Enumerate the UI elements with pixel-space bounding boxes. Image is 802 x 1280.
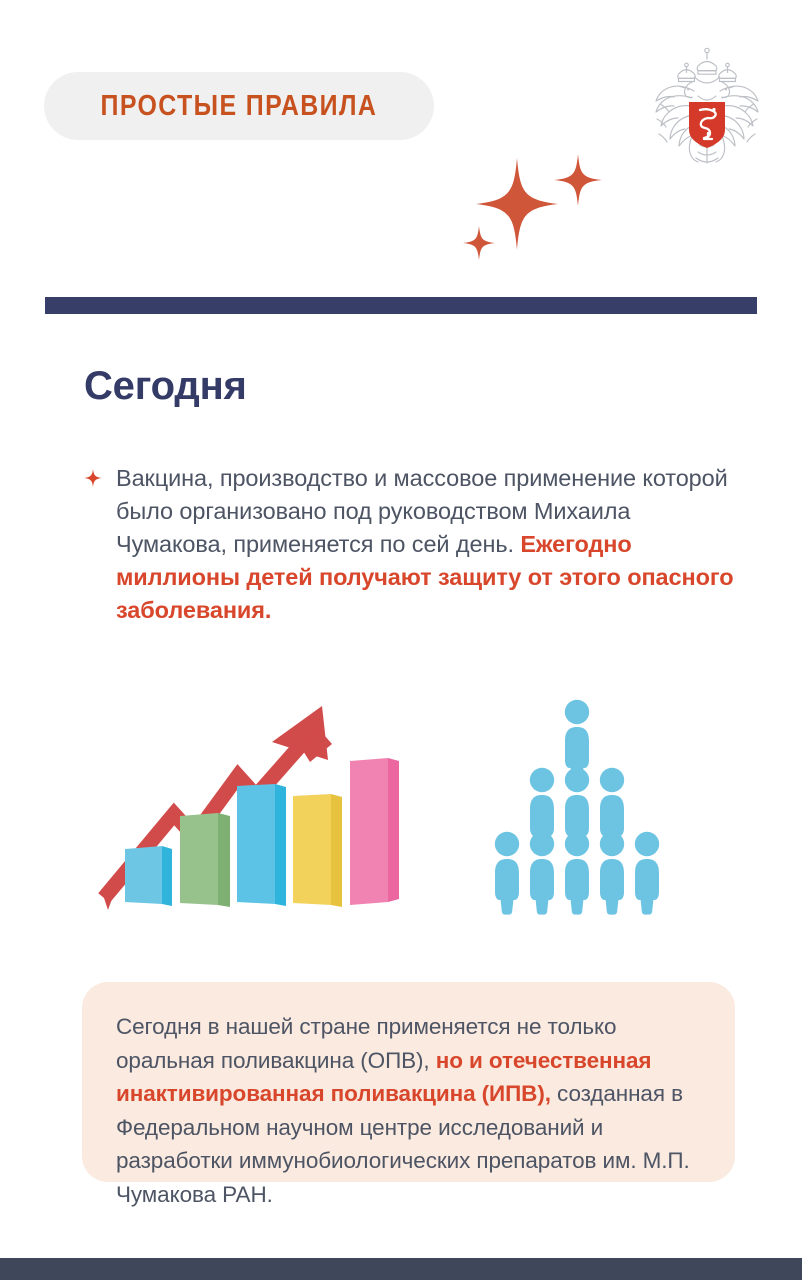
series-badge-label: ПРОСТЫЕ ПРАВИЛА <box>101 90 378 123</box>
infographic-page: ПРОСТЫЕ ПРАВИЛА <box>0 0 802 1280</box>
growth-bar-chart-icon <box>96 688 416 920</box>
sparkle-stars-icon <box>452 152 642 282</box>
series-badge: ПРОСТЫЕ ПРАВИЛА <box>44 72 434 140</box>
bar-5 <box>350 758 399 905</box>
bar-3 <box>237 784 286 906</box>
bar-2 <box>180 813 230 907</box>
bar-4 <box>293 794 342 907</box>
bar-1 <box>125 846 172 906</box>
callout-paragraph: Сегодня в нашей стране применяется не то… <box>116 1010 701 1211</box>
callout-box: Сегодня в нашей стране применяется не то… <box>82 982 735 1182</box>
star-bullet-icon <box>84 469 102 487</box>
page-title: Сегодня <box>84 364 247 409</box>
people-pyramid-icon <box>487 696 667 918</box>
bullet-item: Вакцина, производство и массовое примене… <box>84 462 744 627</box>
page-header: ПРОСТЫЕ ПРАВИЛА <box>0 0 802 180</box>
section-divider <box>45 297 757 314</box>
bullet-paragraph: Вакцина, производство и массовое примене… <box>116 462 744 627</box>
footer-bar <box>0 1258 802 1280</box>
bullet-text-plain: Вакцина, производство и массовое примене… <box>116 465 728 557</box>
illustration-row <box>0 688 802 938</box>
rospotrebnadzor-emblem-icon <box>648 44 766 166</box>
